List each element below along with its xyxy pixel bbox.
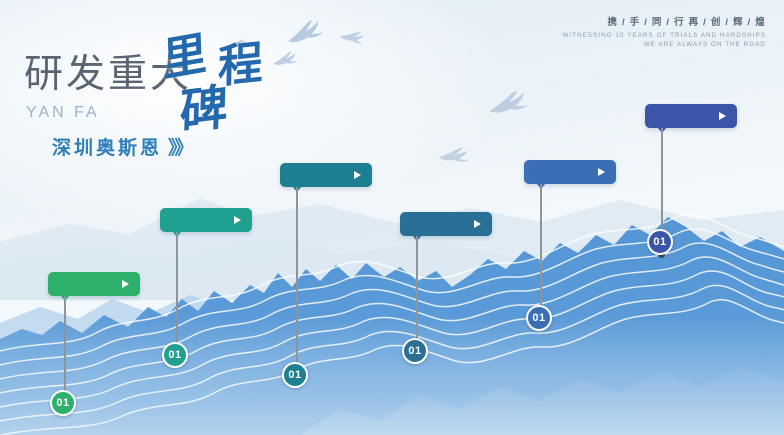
company-name: 深圳奥斯恩 》》	[52, 133, 191, 160]
play-triangle-icon[interactable]	[474, 220, 481, 228]
milestone-2[interactable]	[160, 208, 252, 232]
milestone-2-number-text: 01	[168, 349, 181, 361]
milestone-4-number-text: 01	[408, 345, 421, 357]
play-triangle-icon[interactable]	[122, 280, 129, 288]
milestone-5[interactable]	[524, 160, 616, 184]
brush-char-3: 碑	[179, 67, 229, 144]
milestone-6-label-box[interactable]	[645, 104, 737, 128]
slogan-block: 携 / 手 / 同 / 行 再 / 创 / 辉 / 煌 WITNESSING 1…	[562, 14, 766, 48]
brush-calligraphy-milestone: 里 程 碑	[160, 18, 280, 133]
milestone-3-connector-line	[296, 187, 298, 380]
slogan-english-line1: WITNESSING 10 YEARS OF TRIALS AND HARDSH…	[562, 32, 766, 39]
milestone-5-number-badge[interactable]: 01	[526, 305, 552, 331]
milestone-5-connector-line	[540, 184, 542, 324]
milestone-3-number-text: 01	[288, 369, 301, 381]
milestone-2-label-box[interactable]	[160, 208, 252, 232]
milestone-5-label-box[interactable]	[524, 160, 616, 184]
milestone-infographic-poster: 研发重大 YAN FA 里 程 碑 深圳奥斯恩 》》 携 / 手 / 同 / 行…	[0, 0, 784, 435]
play-triangle-icon[interactable]	[354, 171, 361, 179]
milestone-1-number-badge[interactable]: 01	[50, 390, 76, 416]
slogan-chinese: 携 / 手 / 同 / 行 再 / 创 / 辉 / 煌	[562, 14, 766, 28]
bird-6-icon	[437, 143, 472, 166]
play-triangle-icon[interactable]	[598, 168, 605, 176]
chevron-right-icon: 》》	[168, 133, 191, 160]
milestone-4-number-badge[interactable]: 01	[402, 338, 428, 364]
play-triangle-icon[interactable]	[719, 112, 726, 120]
milestone-4[interactable]	[400, 212, 492, 236]
milestone-3-label-box[interactable]	[280, 163, 372, 187]
play-triangle-icon[interactable]	[234, 216, 241, 224]
milestone-4-label-box[interactable]	[400, 212, 492, 236]
milestone-3[interactable]	[280, 163, 372, 187]
milestone-6[interactable]	[645, 104, 737, 128]
milestone-5-number-text: 01	[532, 312, 545, 324]
milestone-1-number-text: 01	[56, 397, 69, 409]
milestone-6-number-badge[interactable]: 01	[647, 229, 673, 255]
milestone-1[interactable]	[48, 272, 140, 296]
milestone-2-connector-line	[176, 232, 178, 358]
milestone-1-label-box[interactable]	[48, 272, 140, 296]
bird-1-icon	[283, 16, 327, 48]
company-name-text: 深圳奥斯恩	[52, 133, 162, 160]
milestone-6-number-text: 01	[653, 236, 666, 248]
milestone-3-number-badge[interactable]: 01	[282, 362, 308, 388]
milestone-1-connector-line	[64, 296, 66, 404]
bird-5-icon	[486, 87, 532, 117]
milestone-2-number-badge[interactable]: 01	[162, 342, 188, 368]
slogan-english-line2: WE ARE ALWAYS ON THE ROAD	[562, 41, 766, 48]
bird-2-icon	[338, 25, 367, 47]
